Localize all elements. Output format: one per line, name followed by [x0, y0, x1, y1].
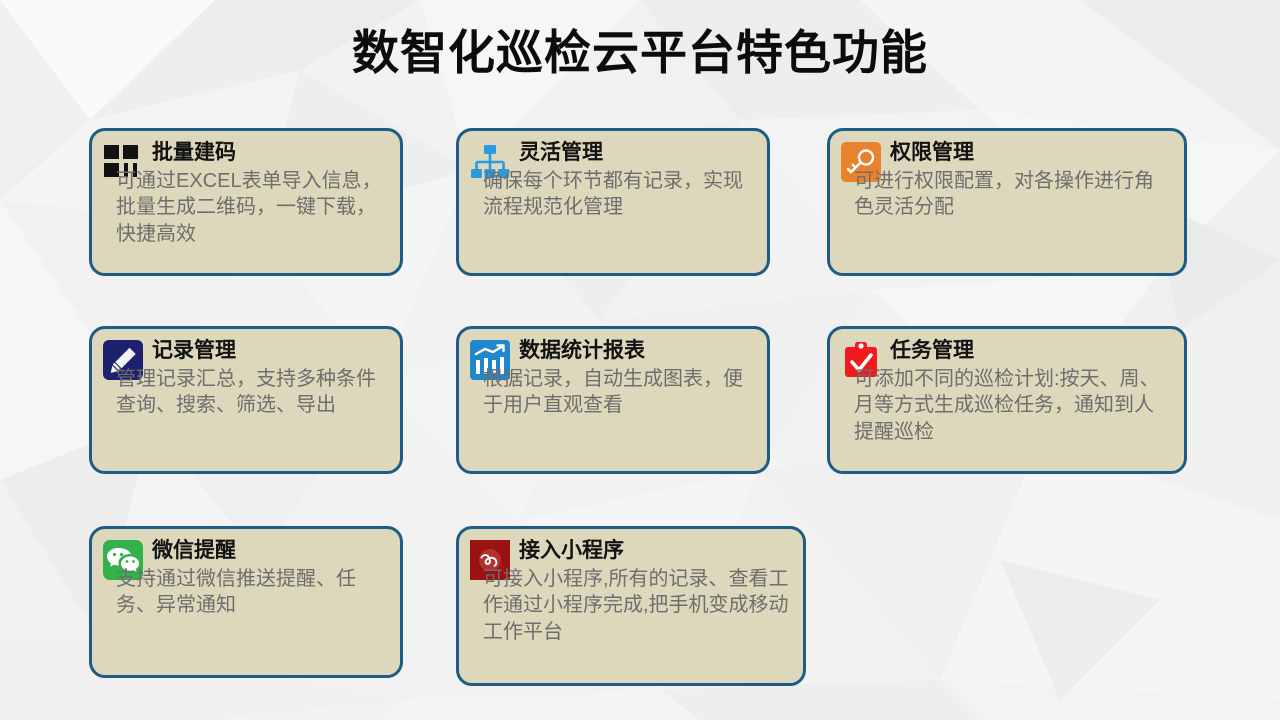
card-body: 批量建码 可通过EXCEL表单导入信息，批量生成二维码，一键下载，快捷高效 — [152, 140, 388, 247]
feature-card-permission-management[interactable]: 权限管理 可进行权限配置，对各操作进行角色灵活分配 — [827, 128, 1187, 276]
feature-card-grid: 批量建码 可通过EXCEL表单导入信息，批量生成二维码，一键下载，快捷高效 — [0, 128, 1280, 708]
card-body: 微信提醒 支持通过微信推送提醒、任务、异常通知 — [152, 538, 388, 619]
card-description: 可接入小程序,所有的记录、查看工作通过小程序完成,把手机变成移动工作平台 — [483, 566, 791, 646]
card-body: 记录管理 管理记录汇总，支持多种条件查询、搜索、筛选、导出 — [152, 338, 388, 419]
card-title: 记录管理 — [152, 338, 388, 364]
feature-card-batch-code[interactable]: 批量建码 可通过EXCEL表单导入信息，批量生成二维码，一键下载，快捷高效 — [89, 128, 403, 276]
card-description: 可添加不同的巡检计划:按天、周、月等方式生成巡检任务，通知到人提醒巡检 — [854, 366, 1172, 446]
feature-card-mini-program[interactable]: 接入小程序 可接入小程序,所有的记录、查看工作通过小程序完成,把手机变成移动工作… — [456, 526, 806, 686]
card-title: 数据统计报表 — [519, 338, 755, 364]
card-description: 支持通过微信推送提醒、任务、异常通知 — [116, 566, 388, 619]
card-description: 可进行权限配置，对各操作进行角色灵活分配 — [854, 168, 1172, 221]
card-body: 任务管理 可添加不同的巡检计划:按天、周、月等方式生成巡检任务，通知到人提醒巡检 — [890, 338, 1172, 445]
card-title: 接入小程序 — [519, 538, 791, 564]
feature-card-wechat-reminder[interactable]: 微信提醒 支持通过微信推送提醒、任务、异常通知 — [89, 526, 403, 678]
card-body: 权限管理 可进行权限配置，对各操作进行角色灵活分配 — [890, 140, 1172, 221]
feature-card-flexible-management[interactable]: 灵活管理 确保每个环节都有记录，实现流程规范化管理 — [456, 128, 770, 276]
card-description: 根据记录，自动生成图表，便于用户直观查看 — [483, 366, 755, 419]
page-title: 数智化巡检云平台特色功能 — [0, 14, 1280, 83]
feature-card-data-report[interactable]: 数据统计报表 根据记录，自动生成图表，便于用户直观查看 — [456, 326, 770, 474]
card-body: 灵活管理 确保每个环节都有记录，实现流程规范化管理 — [519, 140, 755, 221]
card-title: 灵活管理 — [519, 140, 755, 166]
card-description: 可通过EXCEL表单导入信息，批量生成二维码，一键下载，快捷高效 — [116, 168, 388, 248]
card-description: 确保每个环节都有记录，实现流程规范化管理 — [483, 168, 755, 221]
card-title: 权限管理 — [890, 140, 1172, 166]
card-body: 接入小程序 可接入小程序,所有的记录、查看工作通过小程序完成,把手机变成移动工作… — [519, 538, 791, 645]
card-description: 管理记录汇总，支持多种条件查询、搜索、筛选、导出 — [116, 366, 388, 419]
card-title: 微信提醒 — [152, 538, 388, 564]
feature-card-record-management[interactable]: 记录管理 管理记录汇总，支持多种条件查询、搜索、筛选、导出 — [89, 326, 403, 474]
card-body: 数据统计报表 根据记录，自动生成图表，便于用户直观查看 — [519, 338, 755, 419]
feature-card-task-management[interactable]: 任务管理 可添加不同的巡检计划:按天、周、月等方式生成巡检任务，通知到人提醒巡检 — [827, 326, 1187, 474]
card-title: 任务管理 — [890, 338, 1172, 364]
card-title: 批量建码 — [152, 140, 388, 166]
